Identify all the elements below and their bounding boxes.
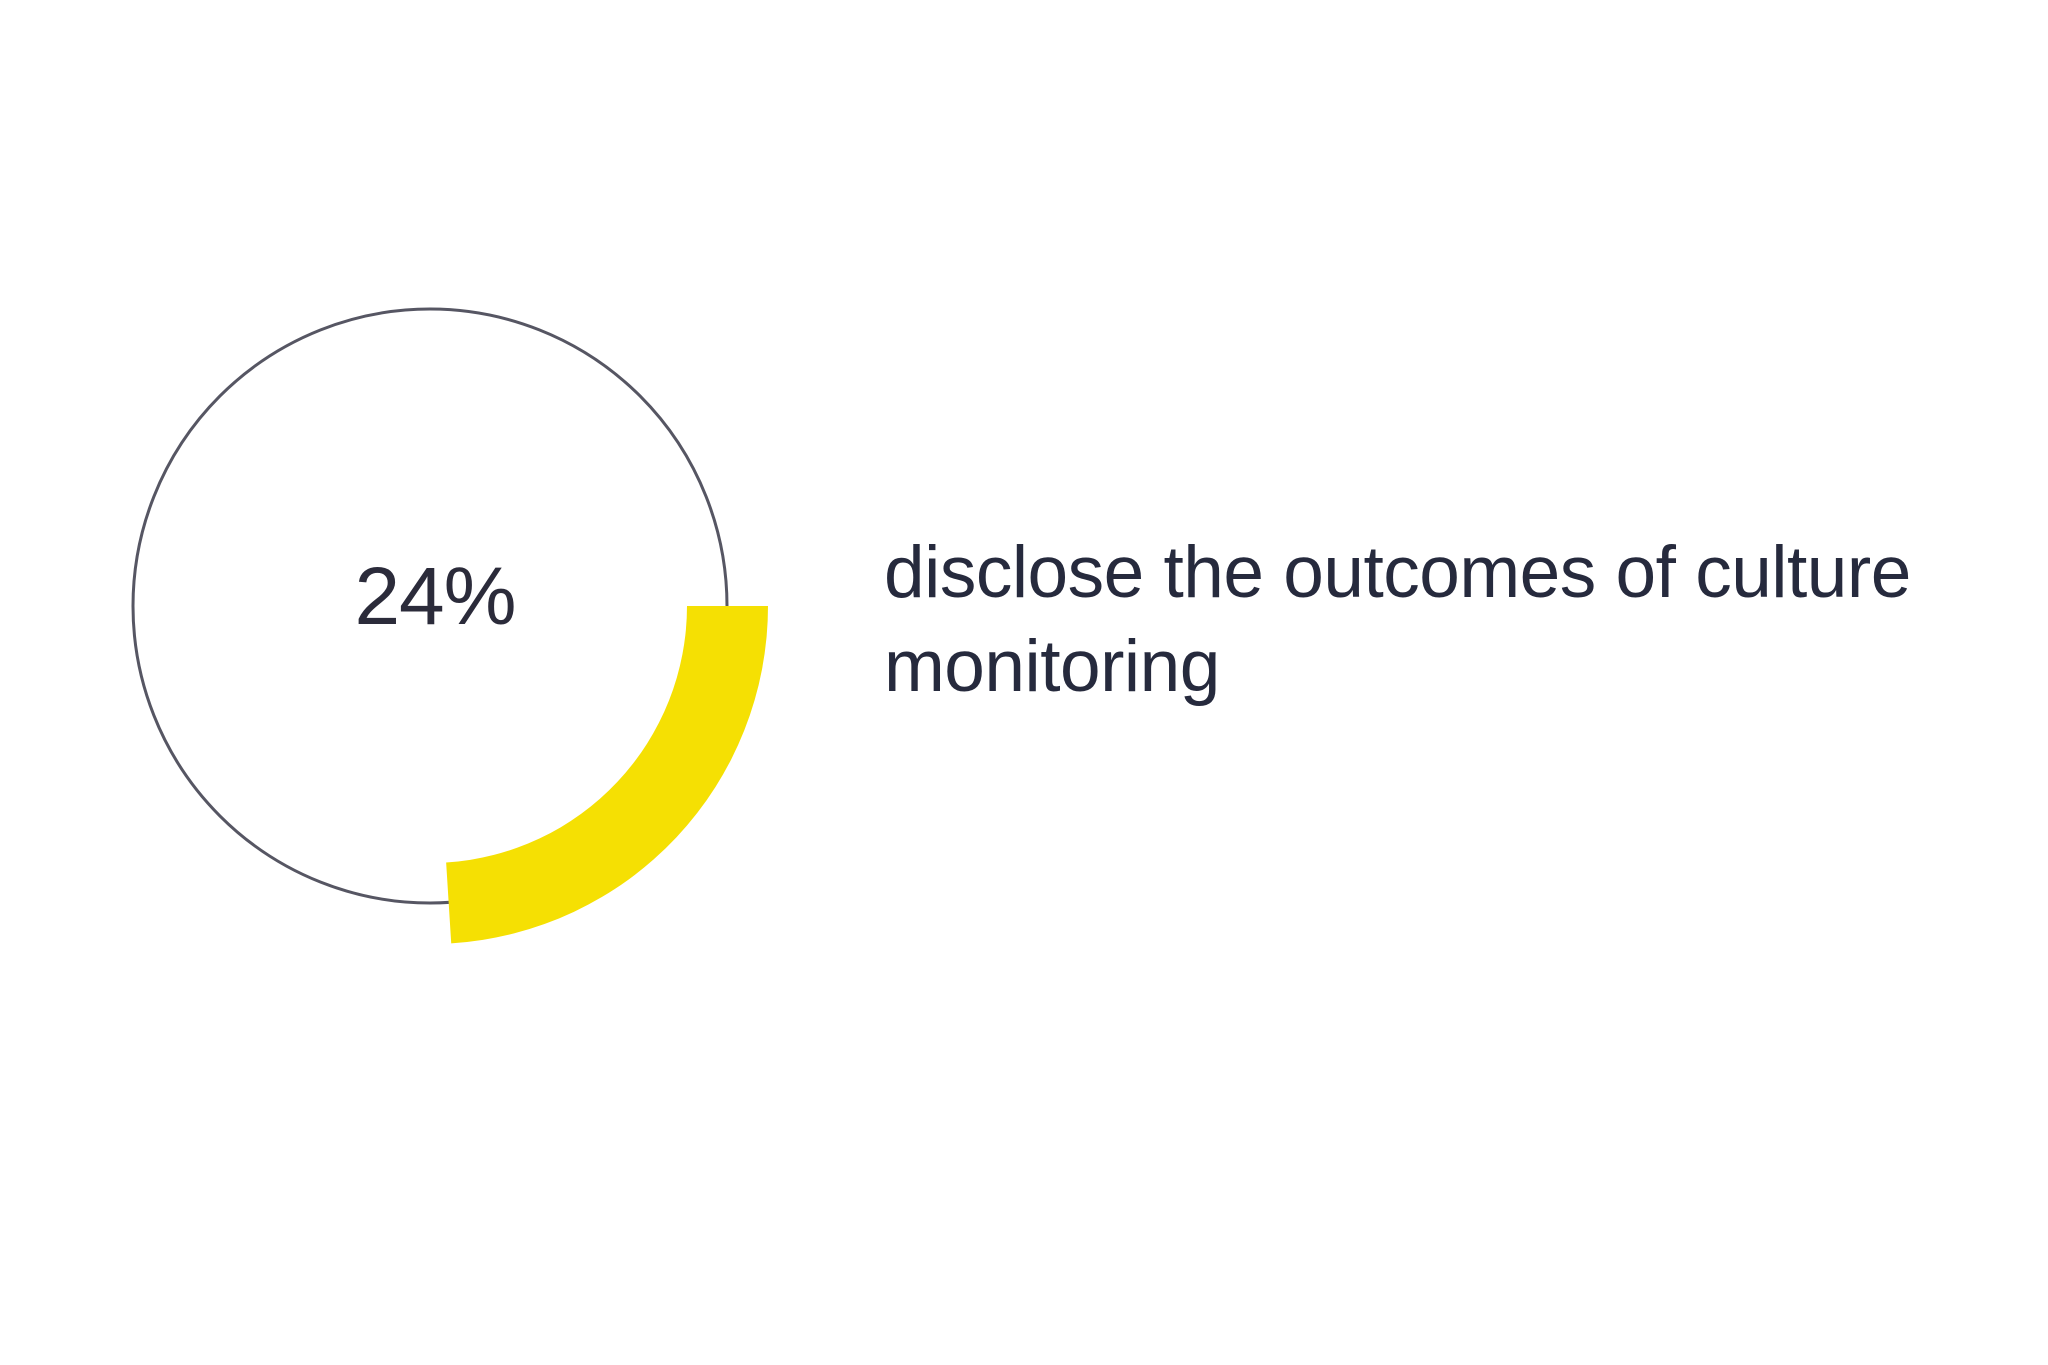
gauge-value-arc	[446, 606, 768, 943]
gauge-value-label: 24%	[250, 556, 620, 638]
caption-line-2: monitoring	[884, 620, 2024, 714]
donut-gauge: 24%	[0, 0, 900, 1000]
slide-canvas: 24% disclose the outcomes of culture mon…	[0, 0, 2048, 1365]
caption-line-1: disclose the outcomes of culture	[884, 526, 2024, 620]
gauge-caption: disclose the outcomes of culture monitor…	[884, 526, 2024, 714]
donut-gauge-svg	[0, 0, 900, 1000]
